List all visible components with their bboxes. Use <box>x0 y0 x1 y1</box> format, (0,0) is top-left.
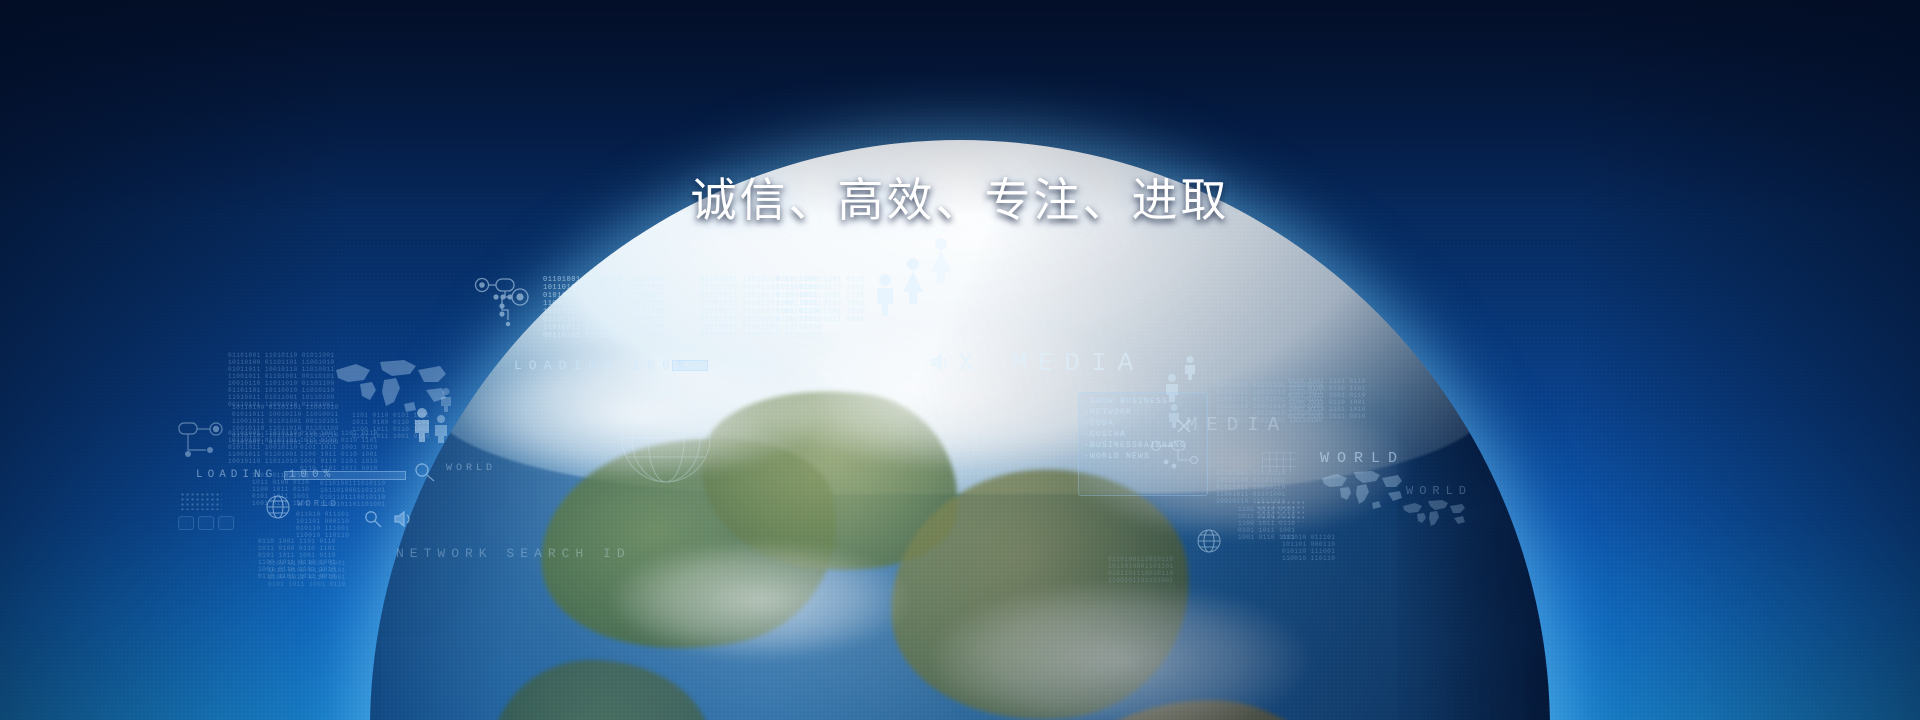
panel-tiles <box>178 516 234 530</box>
dot-grid-decor <box>180 492 222 510</box>
network-node-icon <box>176 420 232 462</box>
loading-label-left: LOADING 100% <box>196 469 335 481</box>
page-title: 诚信、高效、专注、进取 <box>0 164 1920 230</box>
globe-wireframe-icon <box>265 494 291 520</box>
data-text-block: 1101 0110 0101 1011 0100 0110 1100 1011 … <box>252 472 309 507</box>
data-text-block: 01101001 11010110 10110100 01101101 0101… <box>228 430 298 465</box>
banner-stage: 01101001 11010110 01011001 10110100 0110… <box>0 0 1920 720</box>
data-text-block: 01101001 11010110 01011001 10110100 0110… <box>228 352 335 408</box>
data-text-block: 10110100 01101101 11001010 01011011 1001… <box>232 404 339 446</box>
